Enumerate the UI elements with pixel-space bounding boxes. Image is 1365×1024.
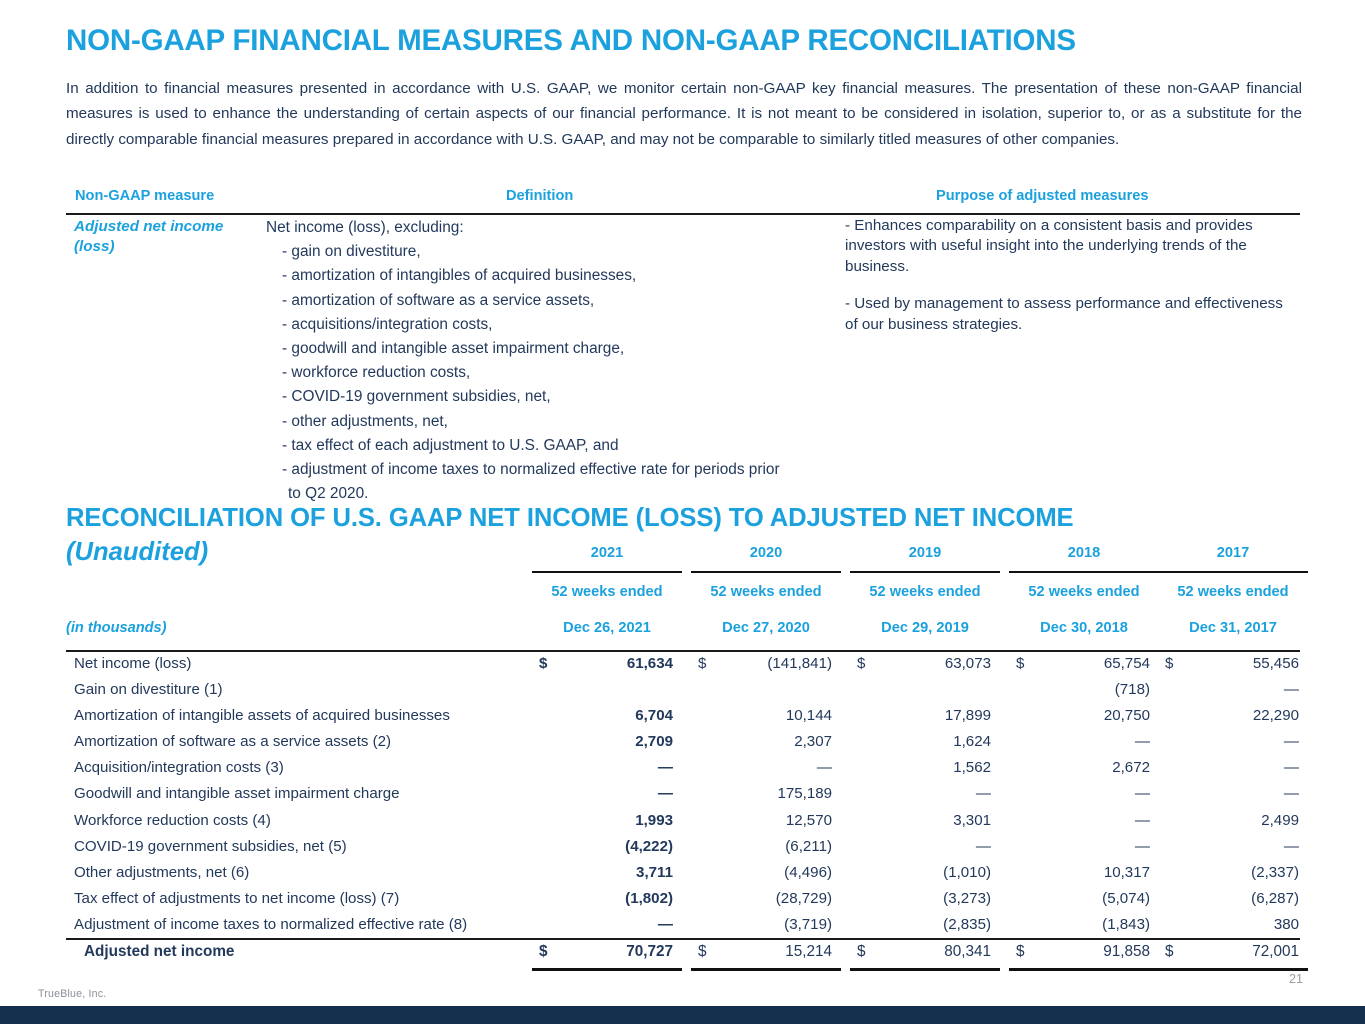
column-header-date: Dec 26, 2021	[532, 620, 682, 636]
cell-value: (4,496)	[691, 864, 841, 881]
cell-value: 12,570	[691, 812, 841, 829]
cell-value: —	[1158, 838, 1308, 855]
purpose-paragraph: - Enhances comparability on a consistent…	[845, 216, 1295, 277]
cell-value: 380	[1158, 916, 1308, 933]
cell-value: 70,727	[532, 943, 682, 961]
definition-bullet: - gain on divestiture,	[282, 240, 836, 264]
column-header-date: Dec 27, 2020	[691, 620, 841, 636]
cell-value: —	[1009, 812, 1159, 829]
column-header-rule	[532, 571, 682, 573]
table-cell: (1,802)	[532, 890, 682, 907]
reconciliation-table: 202152 weeks endedDec 26, 2021202052 wee…	[66, 540, 1300, 960]
column-header-year: 2019	[850, 545, 1000, 561]
table-cell: $65,754	[1009, 655, 1159, 672]
cell-value: 22,290	[1158, 707, 1308, 724]
currency-symbol: $	[698, 943, 707, 961]
table-cell: 1,624	[850, 733, 1000, 750]
column-bottom-rule	[1158, 968, 1308, 971]
row-label: Net income (loss)	[74, 655, 191, 672]
table-cell: (4,222)	[532, 838, 682, 855]
total-cell: $70,727	[532, 943, 682, 961]
column-header-measure: Non-GAAP measure	[75, 188, 214, 204]
table-cell: —	[1158, 733, 1308, 750]
table-cell: —	[1158, 681, 1308, 698]
cell-value: (6,211)	[691, 838, 841, 855]
cell-value: —	[1009, 785, 1159, 802]
table-cell: $63,073	[850, 655, 1000, 672]
measure-definition: Net income (loss), excluding: - gain on …	[266, 216, 836, 506]
table-cell: 1,993	[532, 812, 682, 829]
cell-value: (141,841)	[691, 655, 841, 672]
column-header-year: 2020	[691, 545, 841, 561]
definition-bullet: - COVID-19 government subsidies, net,	[282, 385, 836, 409]
table-cell: 2,709	[532, 733, 682, 750]
column-header-rule	[1009, 571, 1159, 573]
row-label: Goodwill and intangible asset impairment…	[74, 785, 400, 802]
cell-value: 10,317	[1009, 864, 1159, 881]
table-cell: —	[1009, 838, 1159, 855]
cell-value: (718)	[1009, 681, 1159, 698]
table-cell: —	[850, 785, 1000, 802]
cell-value: —	[532, 916, 682, 933]
column-header-definition: Definition	[506, 188, 573, 204]
table-cell: —	[532, 785, 682, 802]
column-header-period: 52 weeks ended	[1158, 584, 1308, 600]
row-label: Amortization of software as a service as…	[74, 733, 391, 750]
table-cell: 2,307	[691, 733, 841, 750]
cell-value: 175,189	[691, 785, 841, 802]
column-header-date: Dec 30, 2018	[1009, 620, 1159, 636]
cell-value: 55,456	[1158, 655, 1308, 672]
table-cell: (4,496)	[691, 864, 841, 881]
definition-bullet: - other adjustments, net,	[282, 410, 836, 434]
table-cell: (6,287)	[1158, 890, 1308, 907]
table-cell: 10,144	[691, 707, 841, 724]
total-cell: $72,001	[1158, 943, 1308, 961]
cell-value: (4,222)	[532, 838, 682, 855]
definition-table: Non-GAAP measure Definition Purpose of a…	[66, 188, 1300, 212]
table-cell: (5,074)	[1009, 890, 1159, 907]
page-number: 21	[1289, 972, 1303, 986]
cell-value: 6,704	[532, 707, 682, 724]
cell-value: 15,214	[691, 943, 841, 961]
cell-value: 2,499	[1158, 812, 1308, 829]
currency-symbol: $	[857, 943, 866, 961]
table-cell: 175,189	[691, 785, 841, 802]
column-header-rule	[850, 571, 1000, 573]
definition-bullet-continuation: to Q2 2020.	[288, 482, 836, 506]
column-header-date: Dec 29, 2019	[850, 620, 1000, 636]
table-cell: —	[532, 759, 682, 776]
currency-symbol: $	[1165, 943, 1174, 961]
cell-value: 2,672	[1009, 759, 1159, 776]
table-cell: —	[1009, 785, 1159, 802]
cell-value: 17,899	[850, 707, 1000, 724]
column-header-year: 2018	[1009, 545, 1159, 561]
cell-value: —	[1158, 785, 1308, 802]
column-header-period: 52 weeks ended	[691, 584, 841, 600]
currency-symbol: $	[1016, 655, 1024, 672]
table-cell: —	[532, 916, 682, 933]
slide-root: NON-GAAP FINANCIAL MEASURES AND NON-GAAP…	[0, 0, 1365, 1024]
purpose-paragraph: - Used by management to assess performan…	[845, 294, 1295, 335]
currency-symbol: $	[1165, 655, 1173, 672]
table-cell: —	[1158, 838, 1308, 855]
cell-value: 72,001	[1158, 943, 1308, 961]
table-cell: 3,301	[850, 812, 1000, 829]
cell-value: —	[1158, 733, 1308, 750]
cell-value: 91,858	[1009, 943, 1159, 961]
cell-value: 80,341	[850, 943, 1000, 961]
row-label: COVID-19 government subsidies, net (5)	[74, 838, 347, 855]
cell-value: 2,307	[691, 733, 841, 750]
cell-value: —	[1158, 759, 1308, 776]
cell-value: (6,287)	[1158, 890, 1308, 907]
table-cell: $(141,841)	[691, 655, 841, 672]
table-cell: (28,729)	[691, 890, 841, 907]
currency-symbol: $	[857, 655, 865, 672]
cell-value: 2,709	[532, 733, 682, 750]
column-header-rule	[691, 571, 841, 573]
cell-value: —	[850, 838, 1000, 855]
cell-value: (1,843)	[1009, 916, 1159, 933]
reconciliation-rows: Net income (loss)$61,634$(141,841)$63,07…	[66, 652, 1300, 939]
table-row: Other adjustments, net (6)3,711(4,496)(1…	[66, 861, 1300, 887]
cell-value: (5,074)	[1009, 890, 1159, 907]
currency-symbol: $	[539, 655, 547, 672]
page-title: NON-GAAP FINANCIAL MEASURES AND NON-GAAP…	[66, 24, 1076, 58]
cell-value: —	[1009, 838, 1159, 855]
row-label: Gain on divestiture (1)	[74, 681, 223, 698]
table-row: Amortization of intangible assets of acq…	[66, 704, 1300, 730]
table-cell: (3,273)	[850, 890, 1000, 907]
cell-value: (28,729)	[691, 890, 841, 907]
cell-value: —	[691, 759, 841, 776]
column-header-date: Dec 31, 2017	[1158, 620, 1308, 636]
table-row: Adjustment of income taxes to normalized…	[66, 913, 1300, 939]
table-row: Acquisition/integration costs (3)——1,562…	[66, 756, 1300, 782]
definition-header-rule-right	[841, 213, 1300, 215]
table-cell: —	[1158, 759, 1308, 776]
table-cell: 12,570	[691, 812, 841, 829]
cell-value: —	[850, 785, 1000, 802]
definition-bullet: - workforce reduction costs,	[282, 361, 836, 385]
table-cell: 20,750	[1009, 707, 1159, 724]
cell-value: 3,711	[532, 864, 682, 881]
cell-value: (3,719)	[691, 916, 841, 933]
footer-company-name: TrueBlue, Inc.	[38, 988, 106, 1000]
table-row-total: Adjusted net income$70,727$15,214$80,341…	[66, 940, 1300, 968]
table-row: Amortization of software as a service as…	[66, 730, 1300, 756]
table-cell: 22,290	[1158, 707, 1308, 724]
table-row: Workforce reduction costs (4)1,99312,570…	[66, 809, 1300, 835]
intro-paragraph: In addition to financial measures presen…	[66, 76, 1302, 152]
table-cell: $61,634	[532, 655, 682, 672]
cell-value: 1,993	[532, 812, 682, 829]
table-cell: (2,337)	[1158, 864, 1308, 881]
column-header-rule	[1158, 571, 1308, 573]
table-cell: 17,899	[850, 707, 1000, 724]
cell-value: (1,802)	[532, 890, 682, 907]
table-cell: 2,672	[1009, 759, 1159, 776]
definition-bullet: - amortization of intangibles of acquire…	[282, 264, 836, 288]
column-header-period: 52 weeks ended	[850, 584, 1000, 600]
table-cell: —	[1158, 785, 1308, 802]
table-cell: 2,499	[1158, 812, 1308, 829]
cell-value: 65,754	[1009, 655, 1159, 672]
cell-value: 63,073	[850, 655, 1000, 672]
currency-symbol: $	[1016, 943, 1025, 961]
table-cell: 6,704	[532, 707, 682, 724]
table-cell: $55,456	[1158, 655, 1308, 672]
cell-value: 1,562	[850, 759, 1000, 776]
definition-header-rule-left	[66, 213, 841, 215]
measure-purpose: - Enhances comparability on a consistent…	[845, 216, 1295, 335]
definition-table-header: Non-GAAP measure Definition Purpose of a…	[66, 188, 1300, 212]
total-cell: $80,341	[850, 943, 1000, 961]
bottom-accent-bar	[0, 1006, 1365, 1024]
row-label: Tax effect of adjustments to net income …	[74, 890, 399, 907]
definition-bullet: - adjustment of income taxes to normaliz…	[282, 458, 836, 482]
cell-value: —	[532, 785, 682, 802]
table-cell: 10,317	[1009, 864, 1159, 881]
total-cell: $91,858	[1009, 943, 1159, 961]
definition-bullet: - tax effect of each adjustment to U.S. …	[282, 434, 836, 458]
cell-value: 1,624	[850, 733, 1000, 750]
total-cell: $15,214	[691, 943, 841, 961]
column-bottom-rule	[691, 968, 841, 971]
cell-value: —	[1009, 733, 1159, 750]
cell-value: (1,010)	[850, 864, 1000, 881]
cell-value: 3,301	[850, 812, 1000, 829]
definition-bullet: - amortization of software as a service …	[282, 289, 836, 313]
column-header-year: 2021	[532, 545, 682, 561]
row-label: Other adjustments, net (6)	[74, 864, 249, 881]
cell-value: (2,835)	[850, 916, 1000, 933]
table-cell: —	[850, 838, 1000, 855]
table-cell: —	[691, 759, 841, 776]
currency-symbol: $	[539, 943, 548, 961]
measure-name: Adjusted net income (loss)	[74, 217, 264, 257]
row-label: Workforce reduction costs (4)	[74, 812, 271, 829]
column-header-period: 52 weeks ended	[1009, 584, 1159, 600]
column-header-purpose: Purpose of adjusted measures	[936, 188, 1149, 204]
column-header-period: 52 weeks ended	[532, 584, 682, 600]
cell-value: —	[1158, 681, 1308, 698]
cell-value: 20,750	[1009, 707, 1159, 724]
table-cell: (6,211)	[691, 838, 841, 855]
cell-value: 10,144	[691, 707, 841, 724]
definition-lead: Net income (loss), excluding:	[266, 216, 836, 240]
table-cell: 380	[1158, 916, 1308, 933]
currency-symbol: $	[698, 655, 706, 672]
table-cell: 3,711	[532, 864, 682, 881]
table-cell: (3,719)	[691, 916, 841, 933]
table-row: COVID-19 government subsidies, net (5)(4…	[66, 835, 1300, 861]
definition-bullet: - acquisitions/integration costs,	[282, 313, 836, 337]
table-row: Goodwill and intangible asset impairment…	[66, 782, 1300, 808]
column-header-year: 2017	[1158, 545, 1308, 561]
column-bottom-rule	[532, 968, 682, 971]
table-row: Gain on divestiture (1)(718)—	[66, 678, 1300, 704]
table-cell: (1,010)	[850, 864, 1000, 881]
section-title-reconciliation: RECONCILIATION OF U.S. GAAP NET INCOME (…	[66, 504, 1074, 533]
column-bottom-rule	[1009, 968, 1159, 971]
table-cell: (718)	[1009, 681, 1159, 698]
table-row: Tax effect of adjustments to net income …	[66, 887, 1300, 913]
definition-bullet: - goodwill and intangible asset impairme…	[282, 337, 836, 361]
table-cell: 1,562	[850, 759, 1000, 776]
table-cell: (2,835)	[850, 916, 1000, 933]
table-cell: (1,843)	[1009, 916, 1159, 933]
cell-value: (3,273)	[850, 890, 1000, 907]
table-cell: —	[1009, 733, 1159, 750]
table-bottom-rules	[66, 968, 1300, 973]
table-row: Net income (loss)$61,634$(141,841)$63,07…	[66, 652, 1300, 678]
column-bottom-rule	[850, 968, 1000, 971]
table-cell: —	[1009, 812, 1159, 829]
cell-value: 61,634	[532, 655, 682, 672]
total-row-label: Adjusted net income	[84, 943, 234, 961]
cell-value: —	[532, 759, 682, 776]
row-label: Adjustment of income taxes to normalized…	[74, 916, 467, 933]
row-label: Amortization of intangible assets of acq…	[74, 707, 450, 724]
row-label: Acquisition/integration costs (3)	[74, 759, 284, 776]
cell-value: (2,337)	[1158, 864, 1308, 881]
